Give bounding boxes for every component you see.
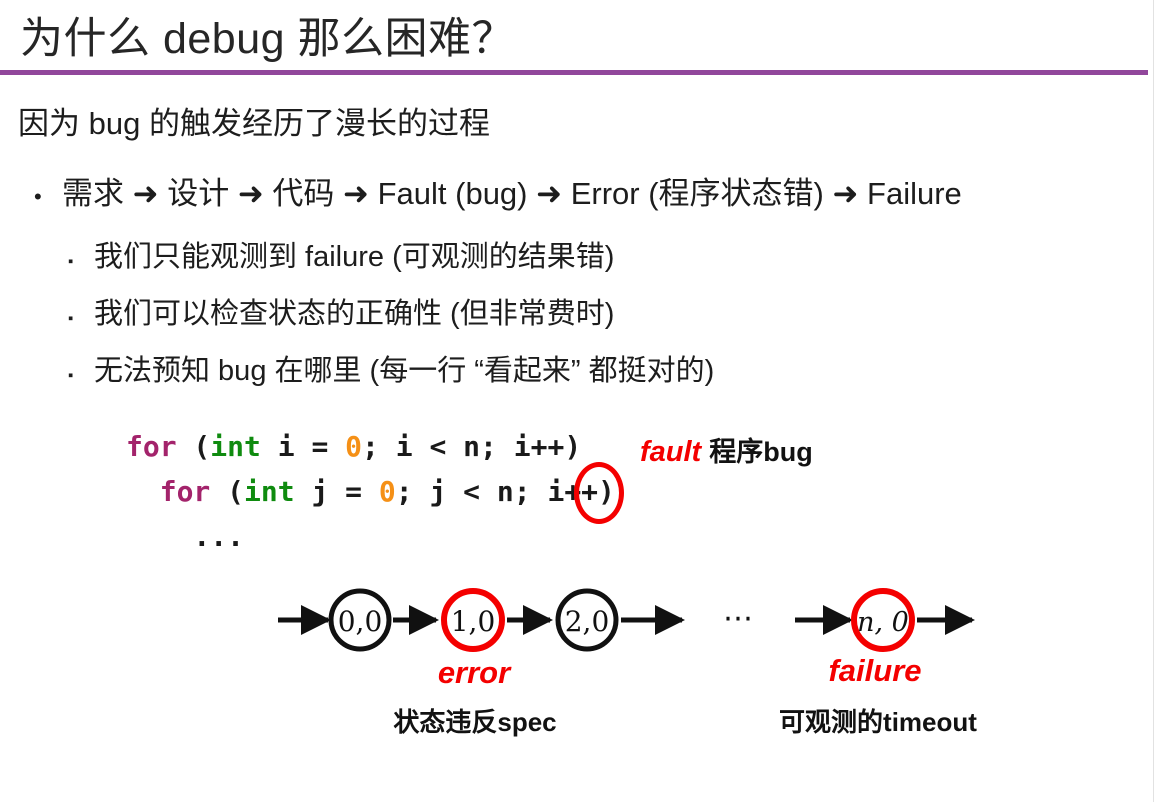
bug-highlight-ellipse-icon: [574, 462, 624, 524]
code-indent: [126, 475, 160, 508]
code-text: ; i < n; i++): [362, 430, 581, 463]
fault-label-cn: 程序bug: [709, 437, 812, 467]
bullet-dot-icon: •: [34, 186, 62, 208]
code-number-zero: 0: [379, 475, 396, 508]
square-bullet-icon: ▪: [68, 254, 94, 269]
sub-bullet-item-1: ▪ 我们只能观测到 failure (可观测的结果错): [68, 233, 614, 275]
state-node-n-label: n, 0: [857, 607, 909, 638]
state-node-1-label: 1,0: [451, 605, 496, 638]
sub-bullet-label-2: 我们可以检查状态的正确性 (但非常费时): [94, 290, 614, 332]
caption-failure: 可观测的timeout: [768, 702, 988, 739]
bullet-item-pipeline: • 需求 ➜ 设计 ➜ 代码 ➜ Fault (bug) ➜ Error (程序…: [34, 168, 962, 213]
diagram-ellipsis: ⋯: [723, 601, 753, 636]
code-text: j =: [295, 475, 379, 508]
sub-bullet-label-1: 我们只能观测到 failure (可观测的结果错): [94, 233, 614, 275]
state-node-2-label: 2,0: [565, 605, 610, 638]
code-text: i =: [261, 430, 345, 463]
code-block: for (int i = 0; i < n; i++) for (int j =…: [126, 424, 615, 559]
slide-canvas: 为什么 debug 那么困难？ 因为 bug 的触发经历了漫长的过程 • 需求 …: [0, 0, 1154, 802]
code-keyword-for: for: [160, 475, 211, 508]
fault-label: fault: [640, 436, 701, 468]
code-type-int: int: [210, 430, 261, 463]
code-line-1: for (int i = 0; i < n; i++): [126, 430, 581, 463]
square-bullet-icon: ▪: [68, 368, 94, 383]
lead-paragraph: 因为 bug 的触发经历了漫长的过程: [18, 98, 490, 143]
code-number-zero: 0: [345, 430, 362, 463]
bullet-label-pipeline: 需求 ➜ 设计 ➜ 代码 ➜ Fault (bug) ➜ Error (程序状态…: [62, 168, 962, 213]
sub-bullet-item-3: ▪ 无法预知 bug 在哪里 (每一行 “看起来” 都挺对的): [68, 347, 714, 389]
sub-bullet-label-3: 无法预知 bug 在哪里 (每一行 “看起来” 都挺对的): [94, 347, 714, 389]
code-keyword-for: for: [126, 430, 177, 463]
square-bullet-icon: ▪: [68, 311, 94, 326]
code-type-int: int: [244, 475, 295, 508]
title-underline-rule: [0, 70, 1148, 75]
code-line-3: ...: [126, 520, 244, 553]
code-punct: (: [210, 475, 244, 508]
error-label: error: [424, 655, 524, 691]
state-node-0-label: 0,0: [338, 605, 383, 638]
sub-bullet-item-2: ▪ 我们可以检查状态的正确性 (但非常费时): [68, 290, 614, 332]
failure-label: failure: [815, 653, 935, 689]
code-annotation: fault程序bug: [640, 430, 813, 469]
caption-error: 状态违反spec: [375, 702, 575, 739]
code-line-2: for (int j = 0; j < n; i++): [126, 475, 615, 508]
code-punct: (: [177, 430, 211, 463]
page-title: 为什么 debug 那么困难？: [20, 4, 515, 66]
